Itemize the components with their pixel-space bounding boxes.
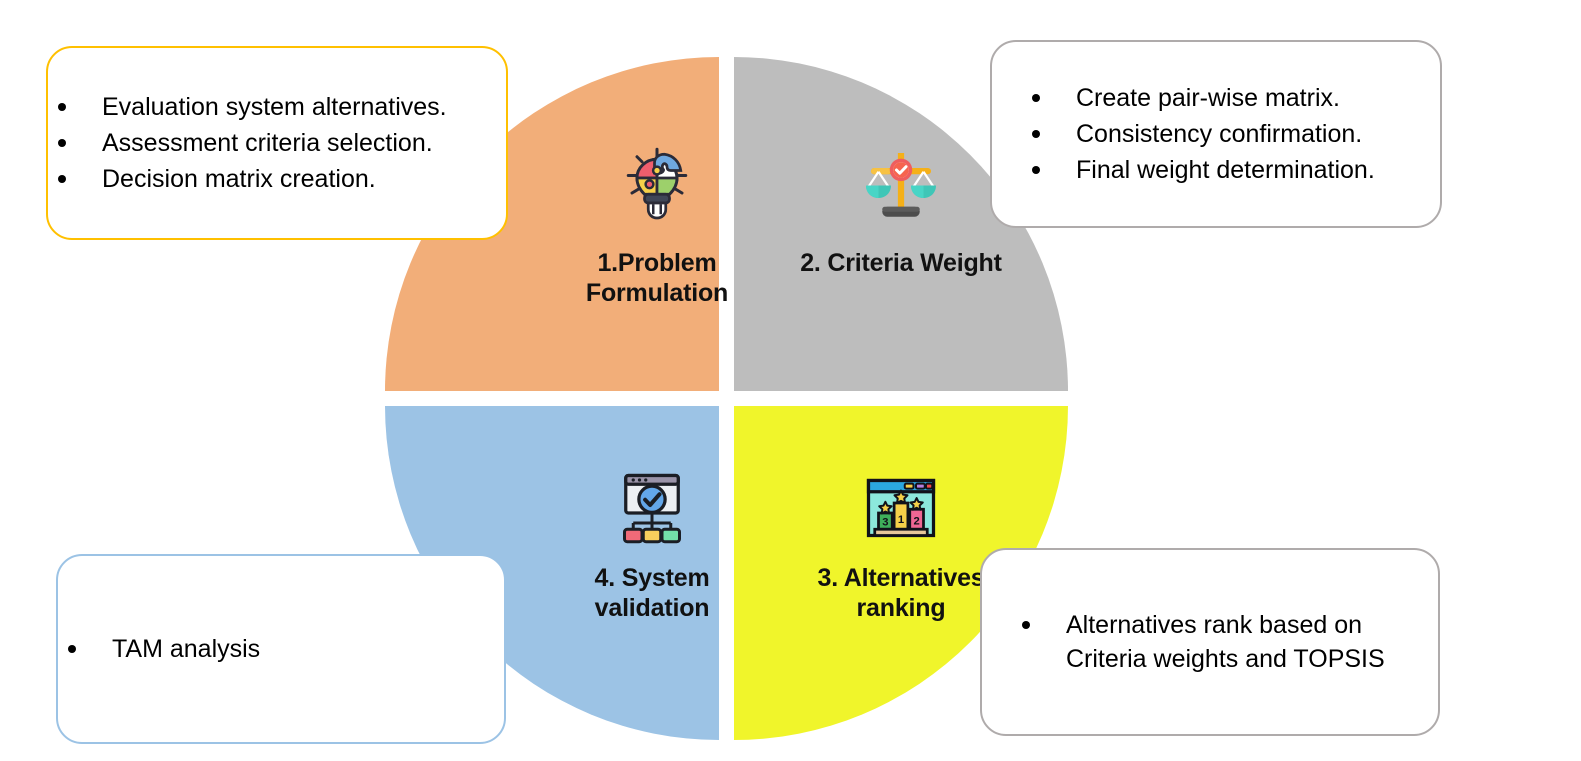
callout-problem-formulation: Evaluation system alternatives. Assessme…: [46, 46, 508, 240]
quadrant-label-criteria-weight: 2. Criteria Weight: [800, 249, 1002, 279]
callout-alternatives-ranking: Alternatives rank based on Criteria weig…: [980, 548, 1440, 736]
bullet-list-alternatives-ranking: Alternatives rank based on Criteria weig…: [982, 608, 1438, 676]
balance-scale-icon: [861, 143, 941, 223]
svg-text:3: 3: [882, 517, 888, 529]
diagram-canvas: 1.Problem Formulation: [0, 0, 1581, 761]
podium-ranking-icon: 3 1 2: [861, 468, 941, 548]
list-item: TAM analysis: [58, 632, 504, 666]
callout-system-validation: TAM analysis: [56, 554, 506, 744]
bullet-dot-icon: [1032, 94, 1040, 102]
list-item: Decision matrix creation.: [48, 162, 506, 196]
bullet-dot-icon: [58, 139, 66, 147]
bullet-dot-icon: [68, 645, 76, 653]
lightbulb-puzzle-icon: [617, 143, 697, 223]
list-item: Alternatives rank based on Criteria weig…: [1012, 608, 1438, 676]
svg-text:2: 2: [913, 515, 919, 527]
list-item: Final weight determination.: [1022, 153, 1440, 187]
bullet-dot-icon: [58, 175, 66, 183]
quadrant-label-system-validation: 4. System validation: [595, 564, 710, 623]
bullet-dot-icon: [58, 103, 66, 111]
browser-check-validation-icon: [612, 468, 692, 548]
bullet-list-system-validation: TAM analysis: [58, 632, 504, 666]
bullet-dot-icon: [1022, 621, 1030, 629]
list-item: Assessment criteria selection.: [48, 126, 506, 160]
bullet-dot-icon: [1032, 166, 1040, 174]
quadrant-label-alternatives-ranking: 3. Alternatives ranking: [818, 564, 985, 623]
list-item: Evaluation system alternatives.: [48, 90, 506, 124]
callout-criteria-weight: Create pair-wise matrix. Consistency con…: [990, 40, 1442, 228]
bullet-list-criteria-weight: Create pair-wise matrix. Consistency con…: [992, 81, 1440, 187]
list-item: Consistency confirmation.: [1022, 117, 1440, 151]
bullet-dot-icon: [1032, 130, 1040, 138]
list-item: Create pair-wise matrix.: [1022, 81, 1440, 115]
bullet-list-problem-formulation: Evaluation system alternatives. Assessme…: [48, 90, 506, 196]
svg-text:1: 1: [898, 514, 904, 526]
quadrant-label-problem-formulation: 1.Problem Formulation: [586, 249, 728, 308]
